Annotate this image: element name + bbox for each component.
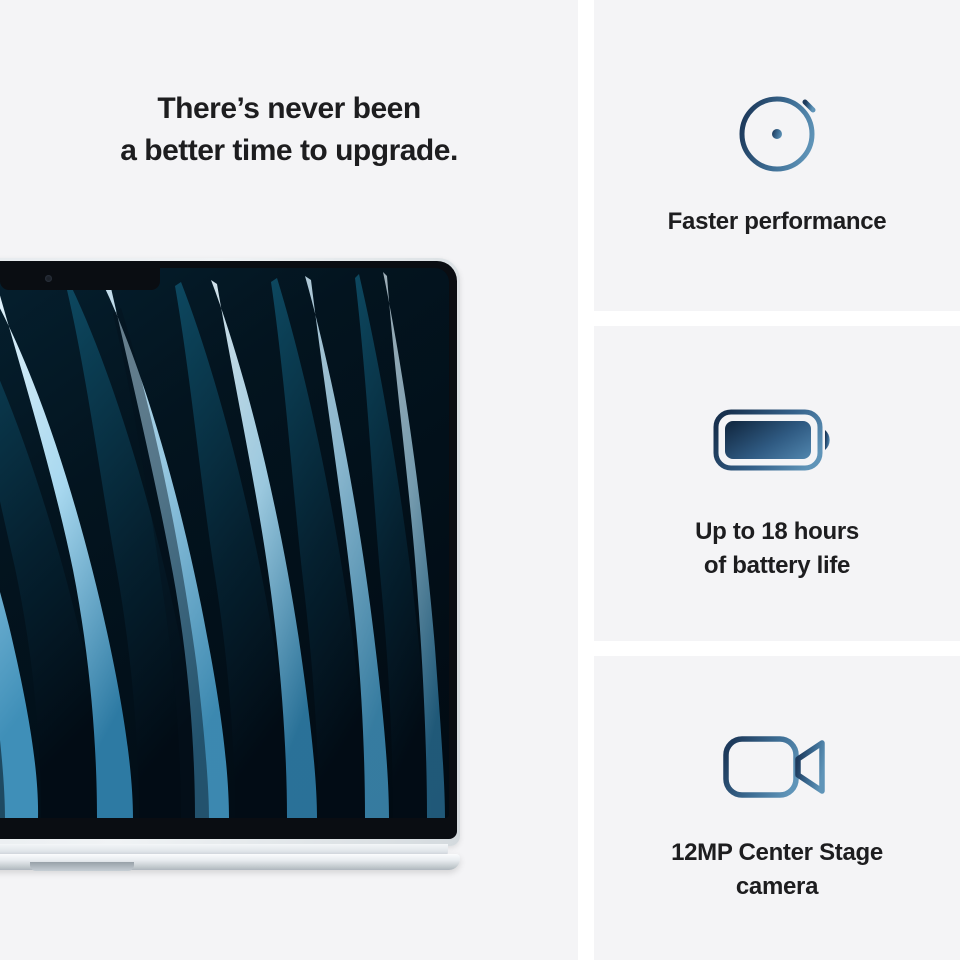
- feature-label: Faster performance: [668, 205, 887, 239]
- page-title: There’s never been a better time to upgr…: [0, 88, 578, 172]
- desktop-wallpaper-icon: [0, 268, 449, 818]
- hero-panel: There’s never been a better time to upgr…: [0, 0, 578, 960]
- laptop-screen: [0, 268, 449, 818]
- product-feature-page: There’s never been a better time to upgr…: [0, 0, 960, 960]
- feature-label: 12MP Center Stage camera: [671, 836, 883, 904]
- screen-notch: [0, 268, 160, 290]
- feature-list: Faster performance: [594, 0, 960, 960]
- video-camera-icon: [721, 712, 833, 822]
- feature-label: Up to 18 hours of battery life: [695, 515, 859, 583]
- facetime-camera-icon: [45, 275, 52, 282]
- feature-card-battery: Up to 18 hours of battery life: [594, 326, 960, 641]
- macbook-laptop-image: [0, 258, 460, 868]
- battery-full-icon: [712, 385, 842, 495]
- feature-card-camera: 12MP Center Stage camera: [594, 656, 960, 960]
- feature-card-performance: Faster performance: [594, 0, 960, 311]
- laptop-base-notch: [30, 862, 134, 871]
- stopwatch-icon: [725, 73, 829, 183]
